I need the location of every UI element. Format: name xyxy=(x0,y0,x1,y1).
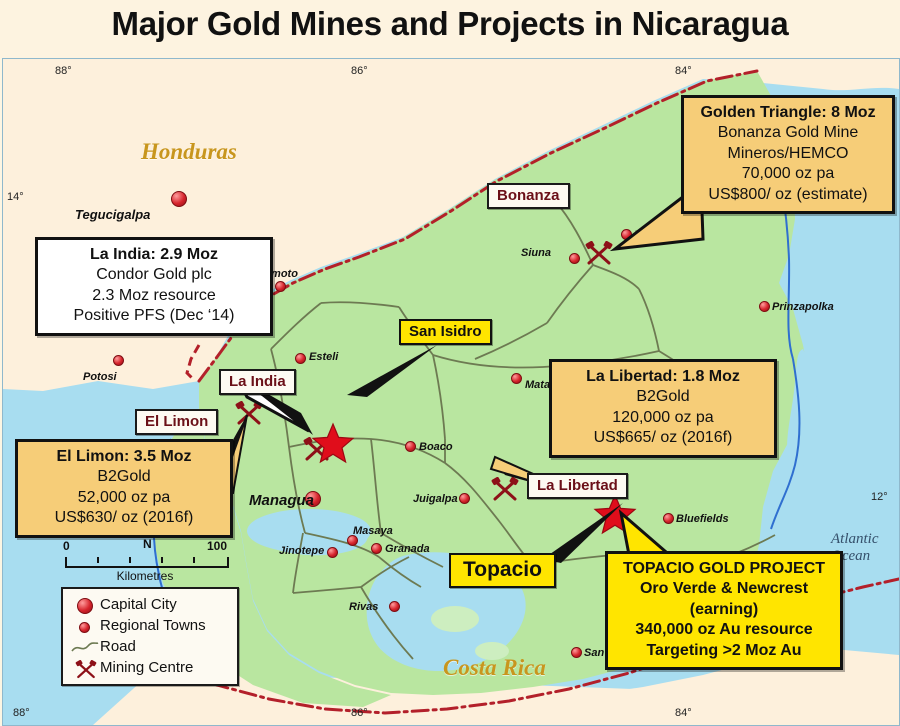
callout-line: Bonanza Gold Mine xyxy=(686,123,890,143)
plate-san-isidro[interactable]: San Isidro xyxy=(399,319,492,345)
callout-line: US$665/ oz (2016f) xyxy=(554,428,772,448)
town-label: Jinotepe xyxy=(279,545,324,557)
legend-label: Regional Towns xyxy=(100,617,206,634)
legend-label: Capital City xyxy=(100,596,177,613)
scale-tick xyxy=(161,557,163,563)
graticule-top-88: 88° xyxy=(55,65,72,77)
legend-label: Road xyxy=(100,638,136,655)
star-marker-la-india xyxy=(311,422,355,464)
callout-line: 70,000 oz pa xyxy=(686,164,890,184)
mining-centre-hammers-icon-la-libertad xyxy=(491,477,519,503)
legend-label: Mining Centre xyxy=(100,659,193,676)
callout-topacio[interactable]: TOPACIO GOLD PROJECT Oro Verde & Newcres… xyxy=(605,551,843,670)
town-label: Tegucigalpa xyxy=(75,207,150,222)
callout-line: Condor Gold plc xyxy=(40,265,268,285)
callout-line: 340,000 oz Au resource xyxy=(610,620,838,640)
regional-town-dot xyxy=(389,601,400,612)
country-label-costa-rica: Costa Rica xyxy=(443,655,546,681)
regional-town-dot xyxy=(511,373,522,384)
regional-town-dot xyxy=(327,547,338,558)
country-label-honduras: Honduras xyxy=(141,139,237,165)
plate-la-libertad[interactable]: La Libertad xyxy=(527,473,628,499)
town-label: Prinzapolka xyxy=(772,301,834,313)
town-label: Boaco xyxy=(419,441,453,453)
callout-line: US$800/ oz (estimate) xyxy=(686,185,890,205)
regional-town-dot-icon xyxy=(70,617,100,635)
page-title: Major Gold Mines and Projects in Nicarag… xyxy=(0,5,900,43)
capital-city-dot-icon xyxy=(70,596,100,614)
town-label: Esteli xyxy=(309,351,338,363)
graticule-bottom-86: 86° xyxy=(351,707,368,719)
graticule-bottom-84: 84° xyxy=(675,707,692,719)
callout-la-libertad[interactable]: La Libertad: 1.8 Moz B2Gold 120,000 oz p… xyxy=(549,359,777,458)
map-canvas[interactable]: 88° 86° 84° 88° 86° 84° 14° 12° Honduras… xyxy=(2,58,900,726)
callout-el-limon[interactable]: El Limon: 3.5 Moz B2Gold 52,000 oz pa US… xyxy=(15,439,233,538)
town-label: Siuna xyxy=(521,247,551,259)
graticule-left-14: 14° xyxy=(7,191,24,203)
mining-centre-hammers-icon-bonanza xyxy=(585,241,613,267)
regional-town-dot xyxy=(663,513,674,524)
callout-line: El Limon: 3.5 Moz xyxy=(20,447,228,467)
ocean-label-line1: Atlantic xyxy=(831,531,879,548)
graticule-top-86: 86° xyxy=(351,65,368,77)
callout-line: Golden Triangle: 8 Moz xyxy=(686,103,890,123)
callout-line: Oro Verde & Newcrest xyxy=(610,579,838,599)
regional-town-dot xyxy=(759,301,770,312)
legend-item-road: Road xyxy=(70,636,228,657)
callout-line: La Libertad: 1.8 Moz xyxy=(554,367,772,387)
regional-town-dot xyxy=(459,493,470,504)
scale-units-label: Kilometres xyxy=(65,569,225,583)
callout-line: 52,000 oz pa xyxy=(20,488,228,508)
scale-tick xyxy=(193,557,195,563)
callout-line: US$630/ oz (2016f) xyxy=(20,508,228,528)
regional-town-dot xyxy=(569,253,580,264)
callout-la-india[interactable]: La India: 2.9 Moz Condor Gold plc 2.3 Mo… xyxy=(35,237,273,336)
map-poster: Major Gold Mines and Projects in Nicarag… xyxy=(0,0,900,726)
legend-item-regional-towns: Regional Towns xyxy=(70,615,228,636)
map-legend: Capital City Regional Towns Road xyxy=(61,587,239,686)
town-label: Rivas xyxy=(349,601,378,613)
regional-town-dot xyxy=(275,281,286,292)
legend-item-mining-centre: Mining Centre xyxy=(70,657,228,678)
town-label: Masaya xyxy=(353,525,393,537)
legend-item-capital-city: Capital City xyxy=(70,594,228,615)
regional-town-dot xyxy=(113,355,124,366)
graticule-bottom-88: 88° xyxy=(13,707,30,719)
callout-line: B2Gold xyxy=(554,387,772,407)
mining-centre-hammers-icon-el-limon xyxy=(235,401,263,427)
plate-la-india[interactable]: La India xyxy=(219,369,296,395)
regional-town-dot xyxy=(571,647,582,658)
town-label: Juigalpa xyxy=(413,493,458,505)
town-label: Granada xyxy=(385,543,430,555)
graticule-right-12: 12° xyxy=(871,491,888,503)
scale-tick xyxy=(129,557,131,563)
north-indicator: N xyxy=(143,537,152,551)
regional-town-dot xyxy=(621,229,632,240)
callout-line: Mineros/HEMCO xyxy=(686,144,890,164)
callout-line: 2.3 Moz resource xyxy=(40,286,268,306)
town-label: La Rosita xyxy=(634,229,684,241)
town-label: Bluefields xyxy=(676,513,729,525)
regional-town-dot xyxy=(295,353,306,364)
scale-bar: N 0 100 Kilometres xyxy=(65,539,225,585)
title-band: Major Gold Mines and Projects in Nicarag… xyxy=(0,0,900,58)
capital-city-dot xyxy=(171,191,187,207)
callout-line: Positive PFS (Dec ‘14) xyxy=(40,306,268,326)
plate-bonanza[interactable]: Bonanza xyxy=(487,183,570,209)
regional-town-dot xyxy=(371,543,382,554)
town-label: Potosi xyxy=(83,371,117,383)
mining-centre-hammers-icon xyxy=(70,659,100,677)
town-label: Managua xyxy=(249,492,314,509)
plate-el-limon[interactable]: El Limon xyxy=(135,409,218,435)
star-marker-topacio xyxy=(593,493,637,535)
callout-line: (earning) xyxy=(610,600,838,620)
scale-tick xyxy=(97,557,99,563)
callout-golden-triangle[interactable]: Golden Triangle: 8 Moz Bonanza Gold Mine… xyxy=(681,95,895,214)
scale-bar-line xyxy=(65,557,229,568)
callout-line: La India: 2.9 Moz xyxy=(40,245,268,265)
callout-line: Targeting >2 Moz Au xyxy=(610,641,838,661)
road-line-icon xyxy=(70,638,100,656)
regional-town-dot xyxy=(405,441,416,452)
graticule-top-84: 84° xyxy=(675,65,692,77)
scale-max-label: 100 xyxy=(207,539,227,553)
callout-line: TOPACIO GOLD PROJECT xyxy=(610,559,838,579)
scale-min-label: 0 xyxy=(63,539,70,553)
callout-line: 120,000 oz pa xyxy=(554,408,772,428)
callout-line: B2Gold xyxy=(20,467,228,487)
plate-topacio[interactable]: Topacio xyxy=(449,553,556,588)
